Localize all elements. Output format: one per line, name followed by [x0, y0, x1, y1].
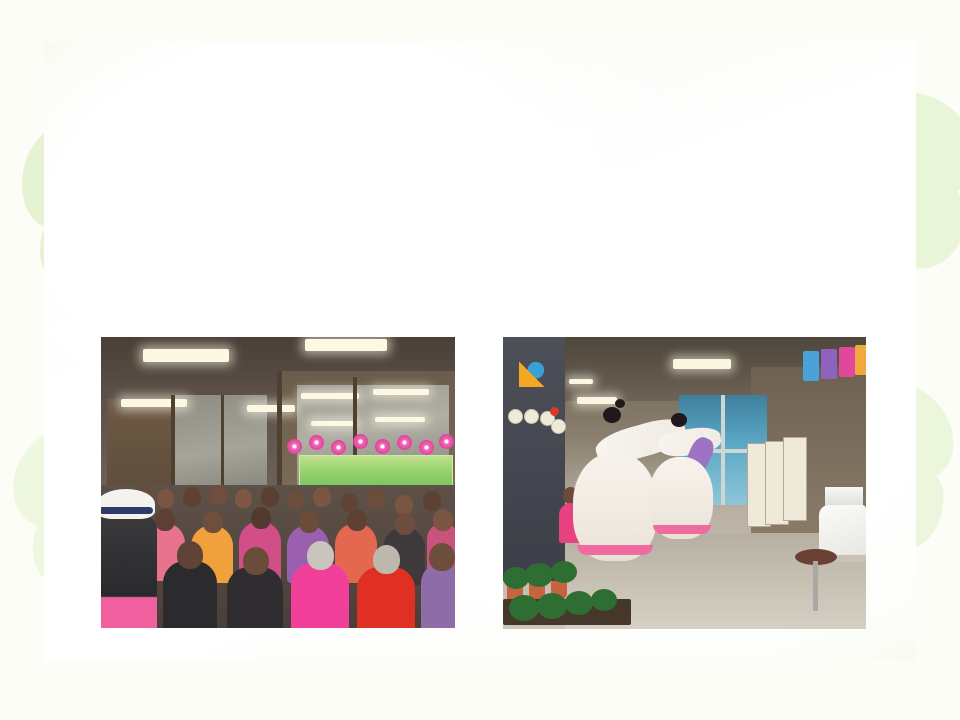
photo-hat-band — [101, 507, 153, 514]
photo-foreground-person — [101, 515, 157, 628]
photo-hanbok-dance — [503, 337, 866, 629]
photo-center-logo — [519, 359, 547, 387]
border-strip-left — [0, 0, 44, 720]
border-strip-bottom — [0, 660, 960, 720]
photo-signage-pillar — [503, 337, 565, 581]
border-strip-right — [914, 0, 960, 720]
photo-sign-line1 — [509, 342, 561, 358]
photo-white-hat — [101, 489, 155, 519]
photo-planter-boxes — [503, 559, 643, 629]
photo-flower-garland — [287, 433, 455, 457]
photo-sign-line2 — [505, 389, 565, 403]
photo-stool-leg — [813, 561, 818, 611]
border-strip-top — [0, 0, 960, 42]
photo-community-hall — [101, 337, 455, 628]
slide-canvas — [0, 0, 960, 720]
